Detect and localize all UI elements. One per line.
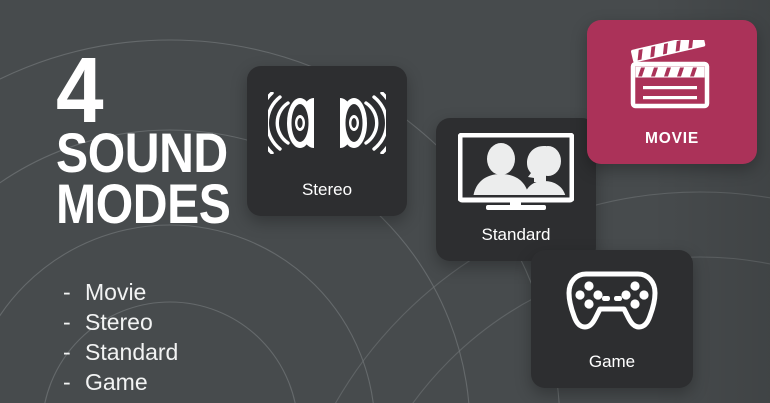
stereo-icon-wrap [247, 66, 407, 180]
game-icon-wrap [531, 250, 693, 352]
list-bullet-dash: - [63, 367, 85, 397]
stereo-speakers-icon [268, 92, 386, 154]
standard-icon-wrap [436, 118, 596, 225]
list-bullet-dash: - [63, 337, 85, 367]
list-item-label: Standard [85, 337, 178, 367]
gamepad-icon [560, 266, 664, 336]
list-item: - Stereo [63, 307, 178, 337]
tile-label-movie: MOVIE [587, 130, 757, 164]
list-item: - Movie [63, 277, 178, 307]
sound-modes-infographic: 4 SOUND MODES - Movie - Stereo - Standar… [0, 0, 770, 403]
tv-two-people-icon [458, 133, 574, 211]
list-bullet-dash: - [63, 277, 85, 307]
headline-line-2: MODES [56, 179, 271, 229]
movie-icon-wrap [587, 20, 757, 130]
tile-label-game: Game [531, 352, 693, 388]
list-item: - Standard [63, 337, 178, 367]
sound-mode-tile-game[interactable]: Game [531, 250, 693, 388]
list-item-label: Movie [85, 277, 146, 307]
sound-mode-tile-stereo[interactable]: Stereo [247, 66, 407, 216]
tile-label-stereo: Stereo [247, 180, 407, 216]
mode-list: - Movie - Stereo - Standard - Game [63, 277, 178, 397]
list-item-label: Game [85, 367, 148, 397]
sound-mode-tile-standard[interactable]: Standard [436, 118, 596, 261]
list-item: - Game [63, 367, 178, 397]
sound-mode-tile-movie[interactable]: MOVIE [587, 20, 757, 164]
list-bullet-dash: - [63, 307, 85, 337]
list-item-label: Stereo [85, 307, 153, 337]
clapperboard-icon [629, 40, 715, 110]
